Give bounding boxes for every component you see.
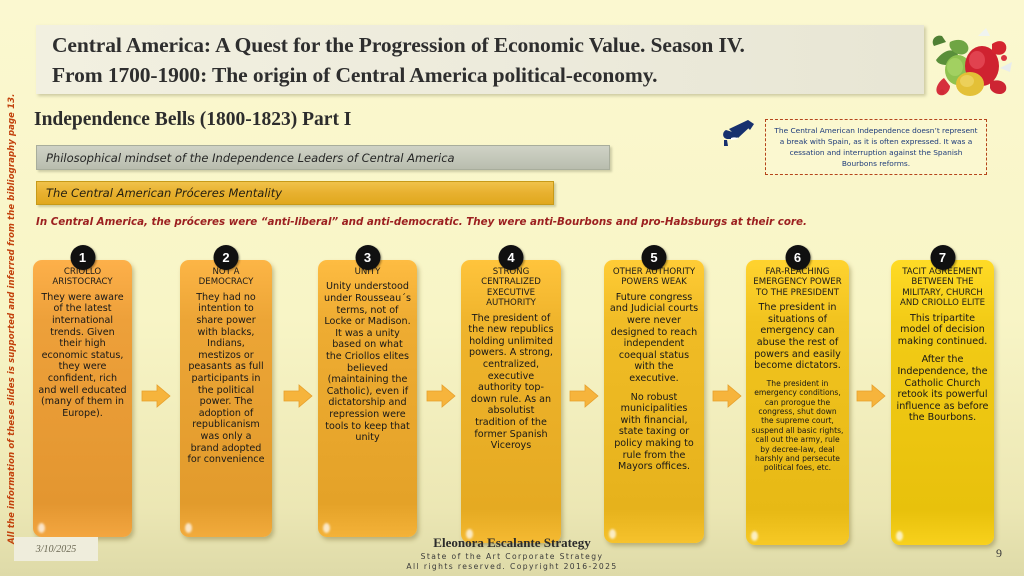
- card-heading-4: STRONG CENTRALIZED EXECUTIVE AUTHORITY: [466, 267, 556, 309]
- card-subparagraph-6-1: The president in emergency conditions, c…: [751, 379, 844, 473]
- card-heading-6: FAR-REACHING EMERGENCY POWER TO THE PRES…: [751, 267, 844, 298]
- card-paragraph-7-2: After the Independence, the Catholic Chu…: [896, 354, 989, 424]
- card-badge-1: 1: [70, 245, 95, 270]
- proceres-mentality-label: The Central American Próceres Mentality: [46, 186, 282, 200]
- footer-brand: Eleonora Escalante Strategy: [0, 535, 1024, 551]
- footer-tagline: State of the Art Corporate Strategy: [0, 552, 1024, 561]
- card-paragraph-5-1: Future congress and Judicial courts were…: [609, 292, 699, 385]
- card-badge-2: 2: [214, 245, 239, 270]
- card-body-4: STRONG CENTRALIZED EXECUTIVE AUTHORITYTh…: [461, 260, 561, 543]
- card-paragraph-4-1: The president of the new republics holdi…: [466, 313, 556, 452]
- title-line-2: From 1700-1900: The origin of Central Am…: [52, 60, 910, 90]
- card-badge-5: 5: [642, 245, 667, 270]
- title-banner: Central America: A Quest for the Progres…: [36, 25, 924, 94]
- lead-statement: In Central America, the próceres were “a…: [36, 216, 807, 228]
- card-paragraph-5-2: No robust municipalities with financial,…: [609, 392, 699, 473]
- card-body-2: NOT A DEMOCRACYThey had no intention to …: [180, 260, 272, 537]
- card-body-3: UNITYUnity understood under Rousseau´s t…: [318, 260, 417, 537]
- flow-arrow-5: [712, 383, 742, 409]
- card-badge-4: 4: [499, 245, 524, 270]
- flow-arrow-4: [569, 383, 599, 409]
- megaphone-icon: [718, 116, 760, 150]
- card-paragraph-3-1: Unity understood under Rousseau´s terms,…: [323, 281, 412, 443]
- cards-row: 1CRIOLLO ARISTOCRACYThey were aware of t…: [0, 245, 1024, 535]
- card-body-7: TACIT AGREEMENT BETWEEN THE MILITARY, CH…: [891, 260, 994, 545]
- card-heading-7: TACIT AGREEMENT BETWEEN THE MILITARY, CH…: [896, 267, 989, 309]
- footer-copyright: All rights reserved. Copyright 2016-2025: [0, 562, 1024, 571]
- proceres-mentality-bar: The Central American Próceres Mentality: [36, 181, 554, 205]
- fruit-splash-decoration: [920, 22, 1016, 106]
- callout-note: The Central American Independence doesn’…: [765, 119, 987, 175]
- slide-canvas: All the information of these slides is s…: [0, 0, 1024, 576]
- card-paragraph-2-1: They had no intention to share power wit…: [185, 292, 267, 466]
- card-heading-1: CRIOLLO ARISTOCRACY: [38, 267, 127, 288]
- flow-arrow-6: [856, 383, 886, 409]
- philosophical-mindset-label: Philosophical mindset of the Independenc…: [46, 151, 455, 165]
- card-heading-2: NOT A DEMOCRACY: [185, 267, 267, 288]
- card-badge-3: 3: [355, 245, 380, 270]
- card-body-1: CRIOLLO ARISTOCRACYThey were aware of th…: [33, 260, 132, 537]
- page-title: Independence Bells (1800-1823) Part I: [34, 109, 351, 131]
- callout-text: The Central American Independence doesn’…: [773, 125, 979, 169]
- card-badge-6: 6: [785, 245, 810, 270]
- card-paragraph-6-1: The president in situations of emergency…: [751, 302, 844, 372]
- flow-arrow-3: [426, 383, 456, 409]
- page-number: 9: [986, 546, 1012, 561]
- card-paragraph-1-1: They were aware of the latest internatio…: [38, 292, 127, 420]
- card-paragraph-7-1: This tripartite model of decision making…: [896, 313, 989, 348]
- card-body-5: OTHER AUTHORITY POWERS WEAKFuture congre…: [604, 260, 704, 543]
- footer: Eleonora Escalante Strategy State of the…: [0, 535, 1024, 571]
- flow-arrow-1: [141, 383, 171, 409]
- title-line-1: Central America: A Quest for the Progres…: [52, 30, 910, 60]
- philosophical-mindset-bar: Philosophical mindset of the Independenc…: [36, 145, 610, 170]
- card-badge-7: 7: [930, 245, 955, 270]
- card-heading-5: OTHER AUTHORITY POWERS WEAK: [609, 267, 699, 288]
- card-body-6: FAR-REACHING EMERGENCY POWER TO THE PRES…: [746, 260, 849, 545]
- flow-arrow-2: [283, 383, 313, 409]
